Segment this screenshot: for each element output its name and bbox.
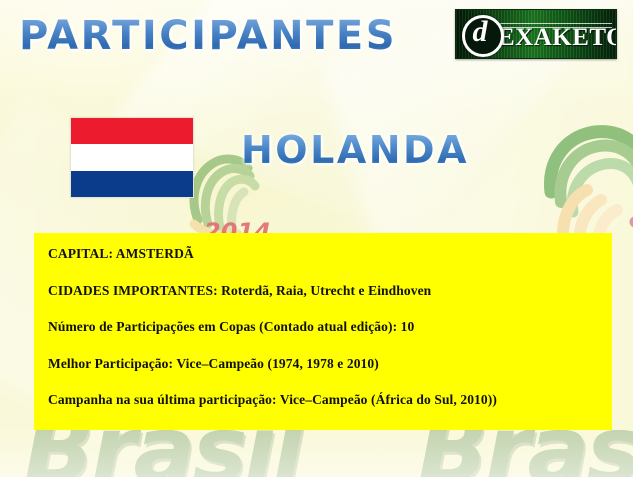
page-title: PARTICIPANTES (19, 16, 397, 56)
info-line-participations: Número de Participações em Copas (Contad… (48, 320, 612, 334)
dexaketo-logo: d EXAKETO (455, 9, 617, 59)
logo-monogram-letter: d (458, 14, 502, 50)
country-info-list: CAPITAL: AMSTERDÃ CIDADES IMPORTANTES: R… (34, 233, 612, 407)
info-line-cities: CIDADES IMPORTANTES: Roterdã, Raia, Utre… (48, 284, 612, 298)
logo-stripe-lines (500, 21, 612, 31)
flag-stripe-red (71, 118, 193, 144)
netherlands-flag (70, 117, 194, 198)
info-line-best-result: Melhor Participação: Vice–Campeão (1974,… (48, 357, 612, 371)
logo-d-monogram-icon: d (458, 12, 502, 56)
flag-stripe-blue (71, 171, 193, 197)
info-line-last-campaign: Campanha na sua última participação: Vic… (48, 393, 612, 407)
info-line-capital: CAPITAL: AMSTERDÃ (48, 247, 612, 261)
country-info-panel: CAPITAL: AMSTERDÃ CIDADES IMPORTANTES: R… (34, 233, 612, 430)
country-heading: HOLANDA (241, 131, 469, 169)
flag-stripe-white (71, 144, 193, 170)
presentation-slide: Brasil Brasil 2014 (0, 0, 633, 477)
